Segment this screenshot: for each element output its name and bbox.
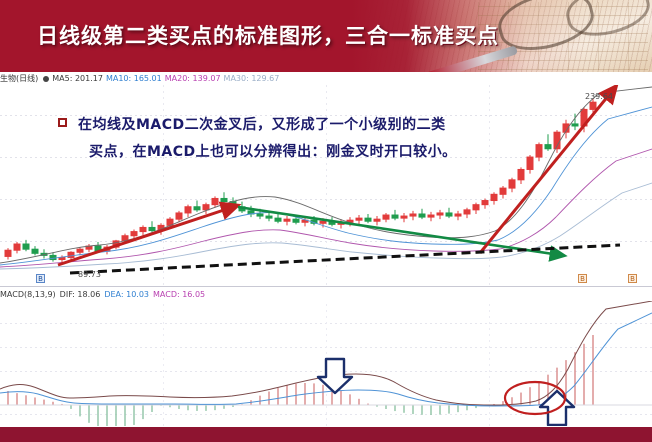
header-banner: 日线级第二类买点的标准图形，三合一标准买点 [0, 0, 652, 72]
low-price-label: 89.73 [78, 270, 101, 279]
annotation-line-1: 在均线及MACD二次金叉后，又形成了一个小级别的二类 [78, 117, 446, 133]
dif-legend: DIF: 18.06 [60, 290, 101, 299]
first-up-arrow [58, 207, 233, 265]
page-title: 日线级第二类买点的标准图形，三合一标准买点 [37, 20, 499, 50]
ma5-legend: MA5: 201.17 [52, 74, 103, 83]
ma30-legend: MA30: 129.67 [224, 74, 280, 83]
slide-root: 日线级第二类买点的标准图形，三合一标准买点 生物(日线)MA5: 201.17M… [0, 0, 652, 442]
annotation-note: 在均线及MACD二次金叉后，又形成了一个小级别的二类 买点，在MACD上也可以分… [58, 112, 578, 166]
marker-chip-left[interactable]: B [36, 274, 45, 283]
marker-chip-mid[interactable]: B [578, 274, 587, 283]
ma10-legend: MA10: 165.01 [106, 74, 162, 83]
footer-bar [0, 427, 652, 442]
macd-value-legend: MACD: 16.05 [153, 290, 205, 299]
macd-title: MACD(8,13,9) [0, 290, 56, 299]
panel-divider [0, 286, 652, 287]
marker-chip-right[interactable]: B [628, 274, 637, 283]
high-price-label: 239.64 [585, 92, 613, 101]
annotation-line-2: 买点，在MACD上也可以分辨得出：刚金叉时开口较小。 [89, 139, 578, 166]
support-trendline [70, 245, 620, 273]
symbol-label: 生物(日线) [0, 74, 38, 83]
macd-legend-bar: MACD(8,13,9)DIF: 18.06DEA: 10.03MACD: 16… [0, 289, 652, 301]
macd-chart-panel[interactable] [0, 301, 652, 426]
ma20-legend: MA20: 139.07 [165, 74, 221, 83]
filled-circle-icon [43, 76, 49, 82]
macd-annotation-overlay [0, 301, 652, 426]
bullet-square-icon [58, 118, 67, 127]
quote-legend-bar: 生物(日线)MA5: 201.17MA10: 165.01MA20: 139.0… [0, 72, 652, 85]
first-golden-cross-pointer [318, 359, 352, 393]
dea-legend: DEA: 10.03 [104, 290, 149, 299]
